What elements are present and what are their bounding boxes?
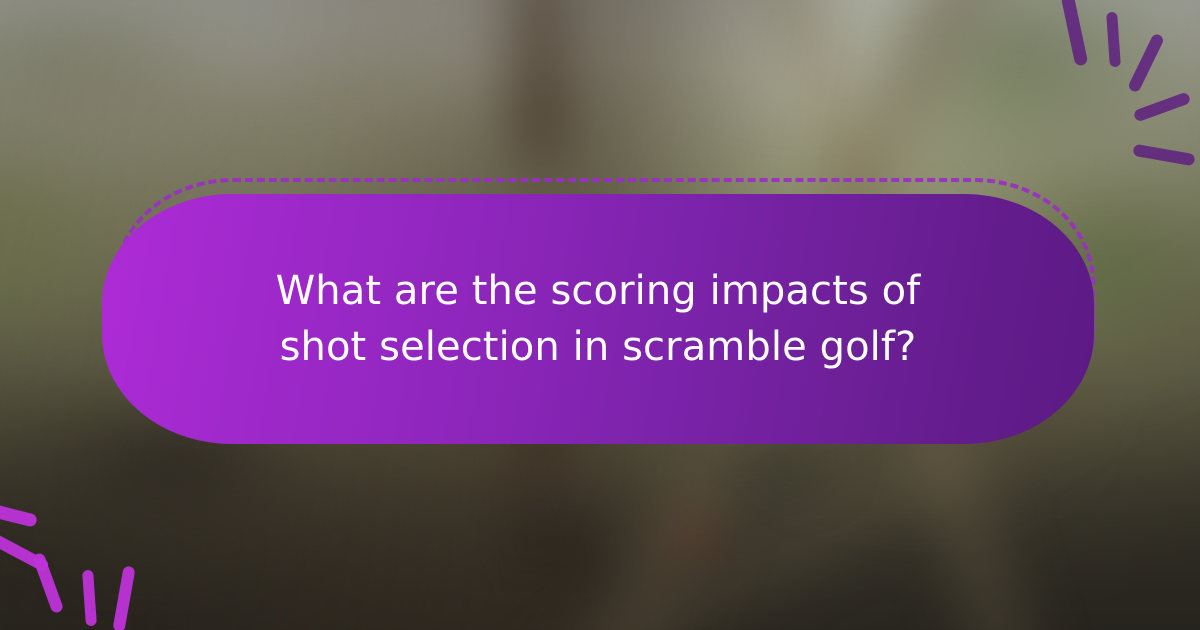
sparkle-burst-bottom-left-ray-4 <box>82 570 97 627</box>
sparkle-burst-bottom-left-ray-5 <box>112 565 135 630</box>
sparkle-burst-top-right-ray-2 <box>1106 12 1121 68</box>
question-text: What are the scoring impacts of shot sel… <box>248 263 948 375</box>
sparkle-burst-bottom-left-icon <box>0 470 180 630</box>
sparkle-burst-bottom-left-ray-3 <box>32 552 64 614</box>
question-card-canvas: What are the scoring impacts of shot sel… <box>0 0 1200 630</box>
sparkle-burst-top-right-icon <box>1040 0 1200 180</box>
sparkle-burst-bottom-left-ray-1 <box>0 498 38 528</box>
sparkle-burst-top-right-ray-3 <box>1127 33 1165 94</box>
sparkle-burst-top-right-ray-1 <box>1061 0 1089 67</box>
sparkle-burst-top-right-ray-5 <box>1132 144 1195 167</box>
sparkle-burst-top-right-ray-4 <box>1133 91 1192 122</box>
question-card[interactable]: What are the scoring impacts of shot sel… <box>102 194 1094 444</box>
